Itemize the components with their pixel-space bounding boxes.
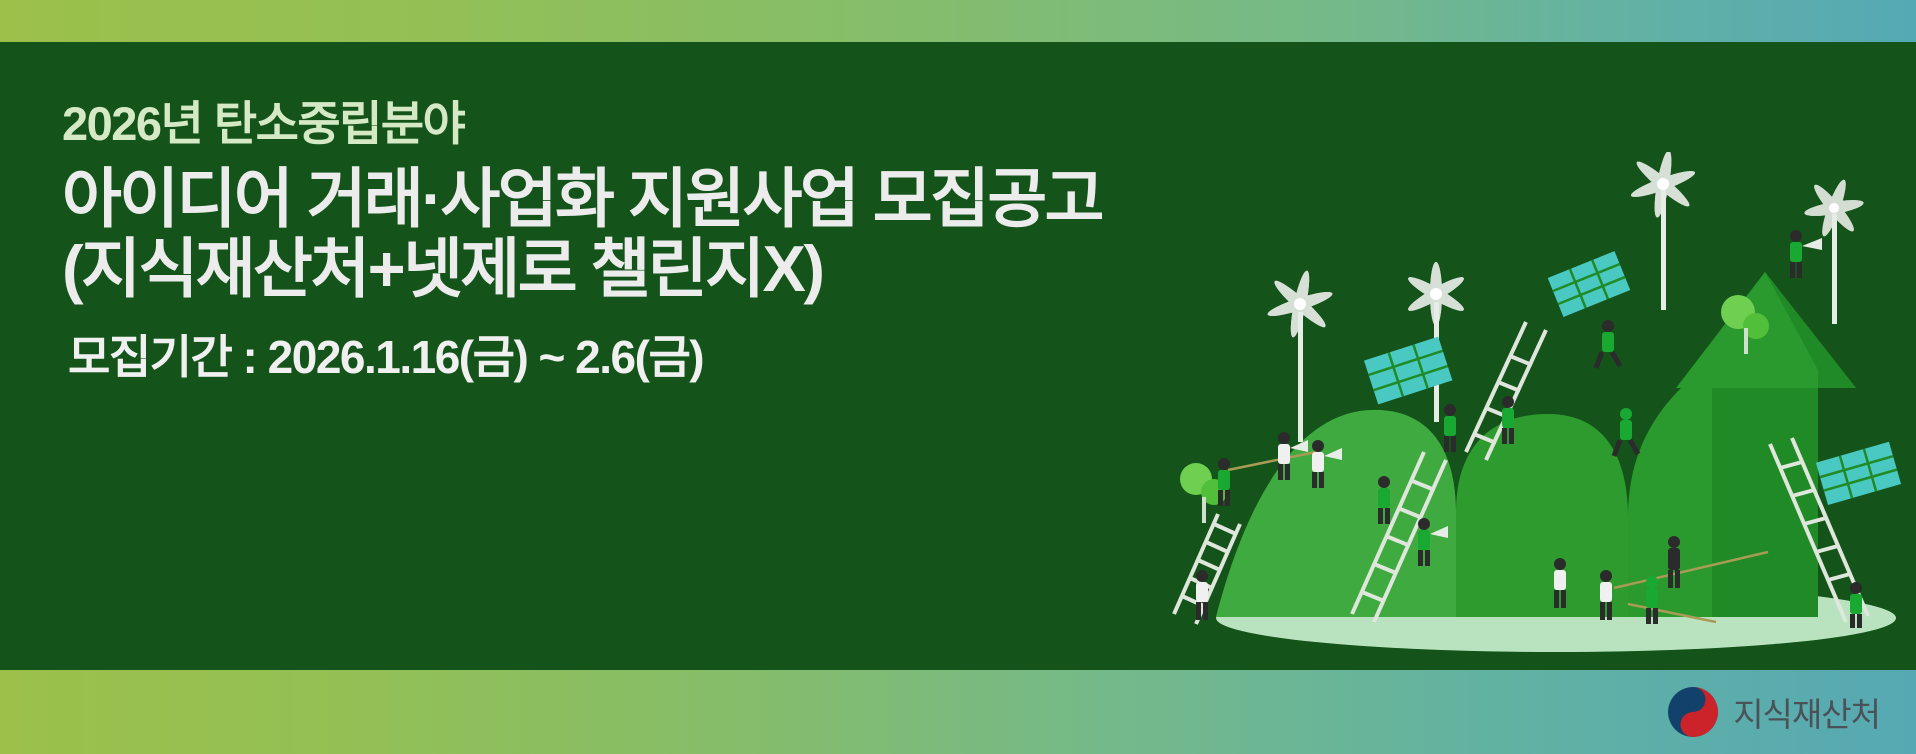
wind-turbine-1 [1266,269,1334,442]
wind-turbine-4 [1803,178,1864,324]
bottom-gradient-bar: 지식재산처 [0,670,1916,754]
figure-standing-mound [1444,404,1456,452]
figure-runner-high [1614,408,1638,456]
banner-text-block: 2026년 탄소중립분야 아이디어 거래·사업화 지원사업 모집공고 (지식재산… [62,100,1102,380]
banner-eyebrow: 2026년 탄소중립분야 [62,100,1102,147]
banner-stage: 2026년 탄소중립분야 아이디어 거래·사업화 지원사업 모집공고 (지식재산… [0,42,1916,670]
taegeuk-icon [1667,686,1719,738]
banner-title-line2: (지식재산처+넷제로 챌린지X) [62,234,1102,304]
solar-panel-3 [1816,442,1901,505]
promo-banner: 2026년 탄소중립분야 아이디어 거래·사업화 지원사업 모집공고 (지식재산… [0,0,1916,754]
banner-period: 모집기간 : 2026.1.16(금) ~ 2.6(금) [68,334,1102,380]
figure-runner-ramp [1596,320,1620,368]
banner-title-line1: 아이디어 거래·사업화 지원사업 모집공고 [62,164,1102,234]
wind-turbine-3 [1629,152,1697,310]
figure-summit [1790,230,1822,278]
top-gradient-bar [0,0,1916,42]
solar-panel-1 [1364,337,1452,405]
agency-name: 지식재산처 [1733,688,1880,736]
agency-logo: 지식재산처 [1667,686,1880,738]
eco-growth-illustration [1156,152,1916,670]
solar-panel-2 [1548,251,1630,317]
